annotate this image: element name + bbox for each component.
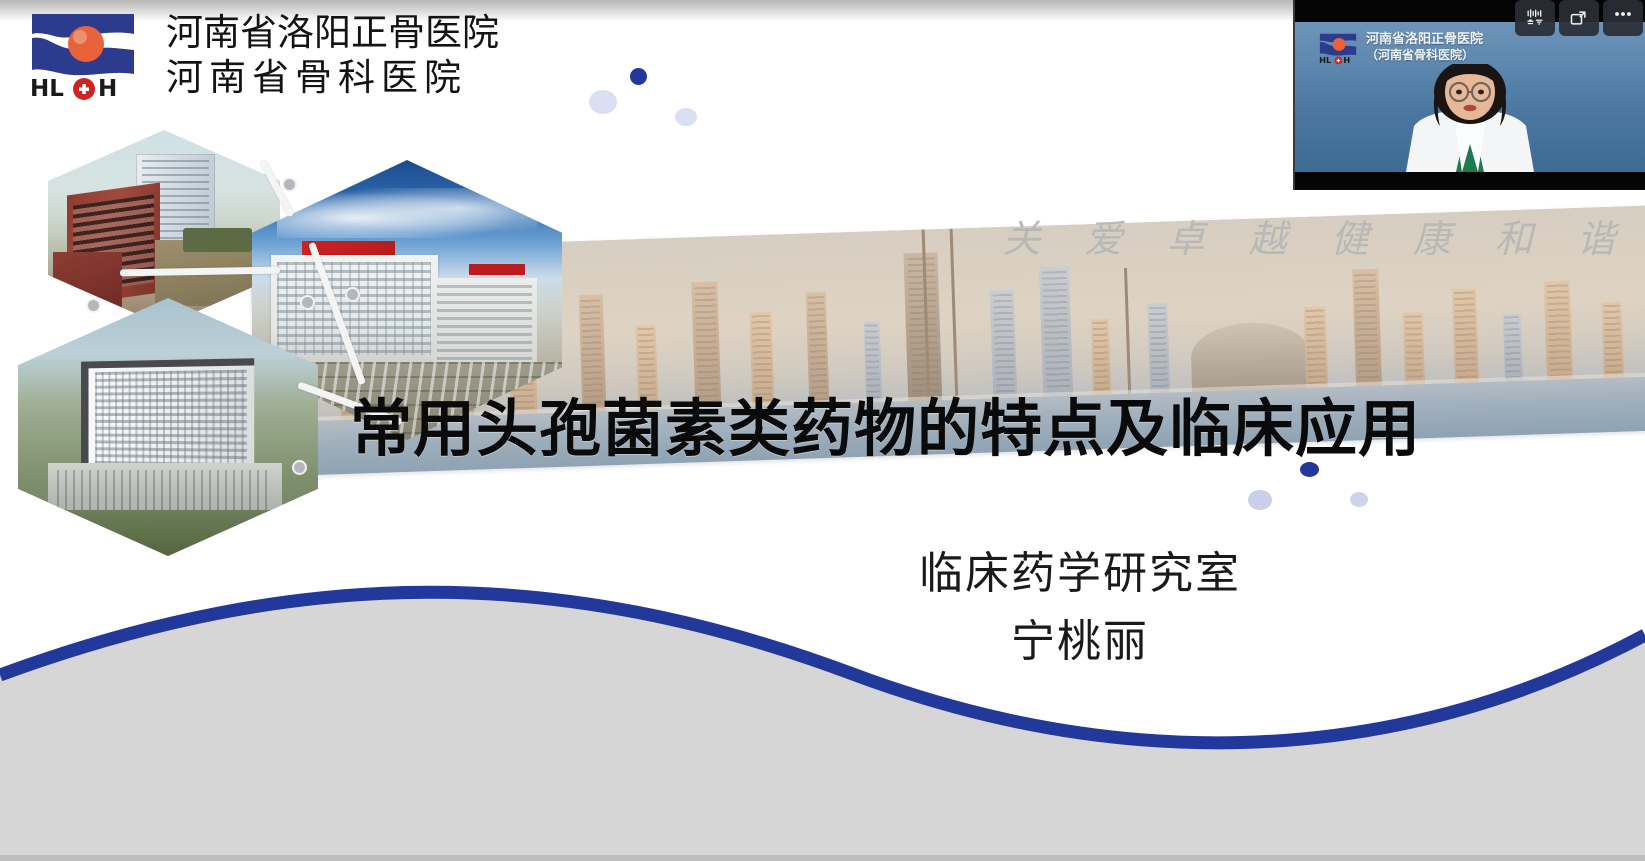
- video-control-bar: [1515, 0, 1645, 36]
- hospital-name-line1: 河南省洛阳正骨医院: [166, 10, 499, 55]
- svg-text:H: H: [1343, 55, 1350, 65]
- decorative-wave-shape: [0, 525, 1645, 855]
- svg-text:HL: HL: [30, 76, 64, 100]
- decor-dot-light-3: [1248, 490, 1272, 510]
- presenter-video-tile[interactable]: HL H 河南省洛阳正骨医院 （河南省骨科医院）: [1293, 0, 1645, 190]
- hospital-name-line2: 河南省骨科医院: [166, 55, 499, 100]
- video-backdrop-logo: HL H 河南省洛阳正骨医院 （河南省骨科医院）: [1317, 31, 1483, 65]
- presenter-department: 临床药学研究室: [830, 540, 1330, 608]
- slide-title: 常用头孢菌素类药物的特点及临床应用: [350, 398, 1421, 460]
- hospital-logo-mark-icon: HL H: [1317, 31, 1359, 65]
- screen-share-view: HL H 河南省洛阳正骨医院 河南省骨科医院: [0, 0, 1645, 861]
- hospital-logo: HL H 河南省洛阳正骨医院 河南省骨科医院: [24, 8, 499, 100]
- hospital-photo-cluster: [0, 120, 620, 550]
- hospital-logo-text: 河南省洛阳正骨医院 河南省骨科医院: [166, 8, 499, 100]
- hospital-building-photo-1: [48, 130, 280, 326]
- decor-dot-light-2: [675, 108, 697, 126]
- hex-node-4: [345, 287, 360, 302]
- video-feed: HL H 河南省洛阳正骨医院 （河南省骨科医院）: [1295, 22, 1645, 172]
- decor-dot-light-4: [1350, 492, 1368, 507]
- hex-node-2: [86, 298, 101, 313]
- picture-in-picture-icon[interactable]: [1559, 0, 1599, 36]
- video-backdrop-line1: 河南省洛阳正骨医院: [1366, 31, 1483, 48]
- hospital-logo-mark-icon: HL H: [24, 8, 142, 100]
- presenter-info: 临床药学研究室 宁桃丽: [830, 540, 1330, 676]
- video-letterbox-bottom: [1295, 172, 1645, 190]
- svg-text:H: H: [98, 76, 117, 100]
- hex-node-5: [292, 460, 307, 475]
- decor-dot-light-1: [589, 90, 617, 114]
- hex-node-3: [300, 295, 315, 310]
- presenter-name: 宁桃丽: [830, 608, 1330, 676]
- video-backdrop-line2: （河南省骨科医院）: [1366, 48, 1483, 64]
- presenter-avatar: [1370, 64, 1570, 172]
- hospital-motto: 关 爱 卓 越 健 康 和 谐: [1002, 208, 1631, 263]
- decor-dot-dark-1: [630, 68, 647, 85]
- svg-text:HL: HL: [1319, 55, 1331, 65]
- translate-captions-icon[interactable]: [1515, 0, 1555, 36]
- more-options-icon[interactable]: [1603, 0, 1643, 36]
- window-bottom-strip: [0, 855, 1645, 861]
- hex-node-1: [282, 177, 297, 192]
